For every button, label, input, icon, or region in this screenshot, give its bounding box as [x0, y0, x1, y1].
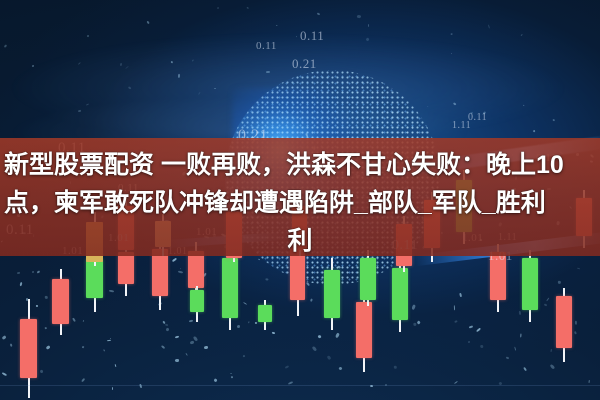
page-title: 新型股票配资 一败再败，洪森不甘心失败：晚上10点，柬军敢死队冲锋却遭遇陷阱_部…	[0, 146, 600, 260]
candlestick-body	[52, 279, 69, 324]
candlestick-body	[190, 290, 204, 312]
price-label: 0.11	[300, 28, 324, 44]
candlestick-body	[360, 258, 376, 300]
candlestick-up	[324, 258, 340, 330]
candlestick-body	[222, 258, 238, 318]
candlestick-up	[190, 286, 204, 322]
candlestick-body	[324, 270, 340, 318]
price-label: 0.21	[292, 56, 317, 72]
price-label: 0.11	[468, 112, 487, 123]
candlestick-up	[522, 250, 538, 322]
bottom-divider	[0, 385, 600, 386]
candlestick-body	[20, 319, 37, 378]
candlestick-body	[356, 302, 372, 358]
candlestick-body	[392, 268, 408, 320]
news-hero-image: 0.110.111.011.010.110.211.010.110.211.11…	[0, 0, 600, 400]
candlestick-down	[20, 299, 37, 398]
candlestick-down	[556, 288, 572, 362]
candlestick-up	[258, 300, 272, 330]
candlestick-body	[258, 305, 272, 322]
candlestick-body	[522, 258, 538, 310]
headline-line-1: 新型股票配资 一败再败，洪森不甘心失败：晚上1	[4, 151, 550, 179]
headline-line-3: 利	[4, 222, 596, 260]
price-label: 0.11	[256, 40, 277, 52]
candlestick-down	[52, 269, 69, 335]
candlestick-body	[556, 296, 572, 348]
